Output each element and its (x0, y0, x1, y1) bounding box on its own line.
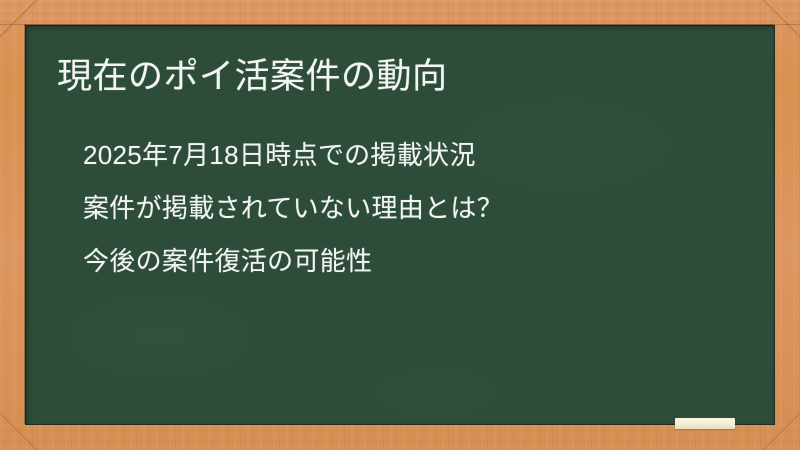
chalk-stick (675, 418, 735, 429)
chalkboard-surface: 現在のポイ活案件の動向 2025年7月18日時点での掲載状況 案件が掲載されてい… (25, 25, 775, 425)
slide-title: 現在のポイ活案件の動向 (57, 55, 448, 99)
bullet-item-2: 案件が掲載されていない理由とは？ (83, 182, 763, 235)
slide-bullet-list: 2025年7月18日時点での掲載状況 案件が掲載されていない理由とは？ 今後の案… (83, 129, 763, 288)
frame-top-rail (0, 0, 800, 25)
bullet-item-3: 今後の案件復活の可能性 (83, 235, 763, 288)
chalkboard-slide: 現在のポイ活案件の動向 2025年7月18日時点での掲載状況 案件が掲載されてい… (0, 0, 800, 450)
bullet-item-1: 2025年7月18日時点での掲載状況 (83, 129, 763, 182)
